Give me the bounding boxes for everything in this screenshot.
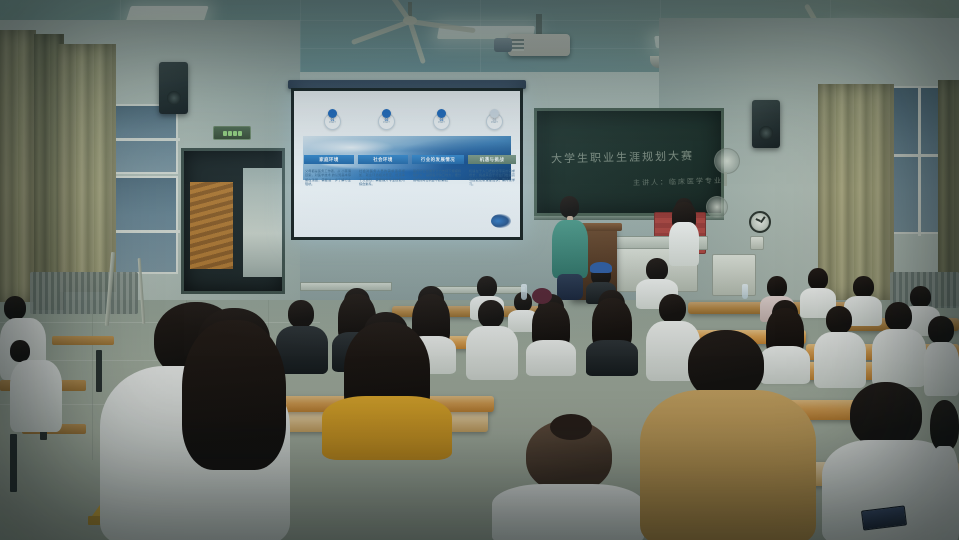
corridor-beyond-door — [243, 168, 282, 277]
audience-mid-4 — [466, 300, 518, 378]
badge-icon-3 — [437, 109, 446, 118]
presenter-head — [560, 196, 579, 218]
wall-speaker-left — [159, 62, 188, 114]
mustard-shirt-torso — [640, 390, 816, 540]
stairwell-steps — [190, 182, 233, 269]
presentation-slide: 01 PART 02 PART 03 PART 04 PART 家庭环境 社会环… — [294, 91, 520, 237]
audience-mid-6-maroon-bun — [522, 288, 562, 336]
exit-sign-glyphs — [223, 131, 242, 136]
slide-badge-2: 02 PART — [378, 113, 395, 130]
slide-header-4: 机遇与挑战 — [468, 155, 516, 164]
blue-cap — [590, 262, 612, 273]
badge-icon-2 — [382, 109, 391, 118]
badge-icon-4 — [490, 109, 499, 118]
slide-body-4: 机遇在于人口老龄化带来的需求增长，挑战来自于行业门槛提高与技能更新速度加快，需持… — [469, 169, 515, 217]
slide-corner-logo — [491, 214, 511, 228]
blackboard-subtitle: 主讲人：临床医学专业 — [633, 176, 723, 188]
audience-mid-10 — [814, 306, 866, 386]
wall-fan-lower — [706, 196, 746, 232]
audience-near-center-bun — [492, 420, 644, 540]
audience-near-far-right — [930, 400, 959, 540]
wall-fan — [712, 148, 752, 192]
wall-speaker-right — [752, 100, 780, 148]
slide-header-1: 家庭环境 — [304, 155, 354, 164]
exit-sign — [213, 126, 251, 140]
audience-mid-11 — [872, 302, 926, 386]
blackboard-title: 大学生职业生涯规划大赛 — [551, 148, 694, 167]
ceiling-fan-left — [345, 2, 475, 42]
audience-near-yellow — [316, 312, 456, 458]
slide-body-1: 父母都是医务工作者，从 小耳濡目染，对医学技术 的认知基本停留在浅层，需要进一步… — [305, 169, 351, 211]
doorway-left[interactable] — [181, 148, 285, 294]
slide-badge-1: 01 PART — [324, 113, 341, 130]
badge-icon-1 — [328, 109, 337, 118]
audience-mid-7 — [586, 290, 638, 374]
ceiling-projector — [508, 14, 570, 60]
slide-body-2: 社会对医务人员的需求逐年增加，就业环境相对稳定，但竞争十分激烈，需要提升专业技能… — [359, 169, 405, 211]
curtain-left-outer — [0, 30, 36, 302]
slide-badge-4: 04 PART — [486, 113, 503, 130]
hair-bun — [550, 414, 592, 440]
slide-header-2: 社会环境 — [358, 155, 408, 164]
slide-badge-3: 03 PART — [433, 113, 450, 130]
projection-screen: 01 PART 02 PART 03 PART 04 PART 家庭环境 社会环… — [291, 88, 523, 240]
curtain-left-inner — [58, 44, 116, 292]
yellow-shirt-torso — [322, 396, 452, 460]
wall-clock — [749, 211, 771, 233]
side-cabinet-right — [712, 254, 756, 296]
lecture-hall-photo: 大学生职业生涯规划大赛 主讲人：临床医学专业 01 PART 02 PART — [0, 0, 959, 540]
water-bottle-2 — [742, 284, 748, 299]
audience-near-mustard — [640, 330, 816, 540]
wall-panel-right — [750, 236, 764, 250]
slide-body-3: 医疗行业在国家大力支持下规模持续扩大，基层医疗缺口较大，细分领域的岗位机会不断涌… — [413, 169, 461, 211]
audience-near-ponytail — [168, 308, 296, 538]
slide-header-3: 行业的发展情况 — [412, 155, 464, 164]
audience-left-seated-2 — [10, 340, 66, 460]
presenter-torso — [552, 220, 588, 278]
maroon-hair-bun — [532, 288, 552, 304]
